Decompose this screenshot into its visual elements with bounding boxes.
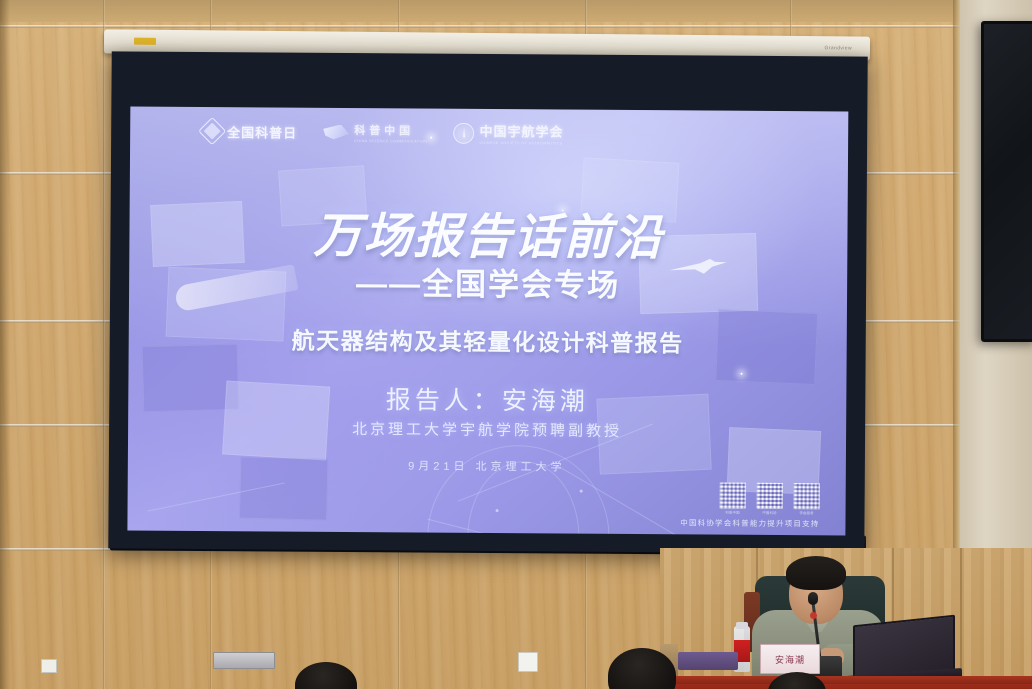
qr-code-icon[interactable] xyxy=(794,483,820,509)
logo-label: 科普中国 xyxy=(354,122,427,139)
microphone-icon xyxy=(808,592,818,605)
podium-desk-front xyxy=(660,684,1032,689)
qr-code-icon[interactable] xyxy=(757,483,783,509)
wall-vertical-seam xyxy=(103,0,105,689)
decor-network-node xyxy=(580,490,583,493)
logo-national-science-day: 全国科普日 xyxy=(202,121,297,142)
wall-outlet[interactable] xyxy=(41,659,57,673)
logo-sublabel: CHINA SCIENCE COMMUNICATION xyxy=(354,139,427,144)
qr-code-item[interactable]: 中国科协 xyxy=(757,483,783,515)
presenter-nameplate: 安海潮 xyxy=(760,644,820,674)
qr-caption: 中国科协 xyxy=(757,510,783,515)
slide-subtitle: ——全国学会专场 xyxy=(129,256,847,306)
microphone-indicator-light xyxy=(810,612,817,619)
logo-label: 全国科普日 xyxy=(227,122,297,141)
wall-outlet[interactable] xyxy=(518,652,538,672)
cube-icon xyxy=(198,117,226,145)
rocket-emblem-icon xyxy=(453,122,474,143)
qr-code-item[interactable]: 学会服务 xyxy=(794,483,820,515)
desk-purple-pad xyxy=(678,652,738,670)
left-wall-edge xyxy=(0,0,10,689)
wall-seam xyxy=(0,25,1032,28)
slide-speaker: 报告人：安海潮 xyxy=(128,378,846,419)
water-bottle-cap xyxy=(736,622,748,629)
nameplate-text: 安海潮 xyxy=(775,653,805,666)
lecture-hall-photo: Grandview xyxy=(0,0,1032,689)
logo-label: 中国宇航学会 xyxy=(479,121,563,141)
slide-topic: 航天器结构及其轻量化设计科普报告 xyxy=(129,320,847,359)
wing-icon xyxy=(323,124,349,139)
decor-sparkle xyxy=(741,373,743,375)
podium-area: 安海潮 xyxy=(660,548,1032,689)
slide-qr-block: 科普中国 中国科协 学会服务 中国科协学会科普能力提升项目支持 xyxy=(680,482,820,529)
logo-chinese-society-astronautics: 中国宇航学会 CHINESE SOCIETY OF ASTRONAUTICS xyxy=(453,121,563,146)
roller-label-sticker xyxy=(134,38,156,45)
qr-code-icon[interactable] xyxy=(720,483,746,509)
logo-sublabel: CHINESE SOCIETY OF ASTRONAUTICS xyxy=(479,141,563,146)
slide-qr-footer: 中国科协学会科普能力提升项目支持 xyxy=(680,517,819,529)
presentation-slide: 全国科普日 科普中国 CHINA SCIENCE COMMUNICATION 中… xyxy=(127,106,848,535)
qr-caption: 科普中国 xyxy=(720,510,746,515)
av-connection-panel[interactable] xyxy=(213,652,275,669)
decor-network-node xyxy=(496,509,499,512)
roller-brand-text: Grandview xyxy=(824,45,852,51)
logo-china-science-communication: 科普中国 CHINA SCIENCE COMMUNICATION xyxy=(323,121,427,143)
ceiling-strip xyxy=(0,0,1032,22)
wall-display-panel xyxy=(981,21,1032,342)
presenter-hair xyxy=(786,556,846,590)
projector-screen: 全国科普日 科普中国 CHINA SCIENCE COMMUNICATION 中… xyxy=(108,51,867,553)
qr-caption: 学会服务 xyxy=(794,510,820,515)
qr-code-item[interactable]: 科普中国 xyxy=(720,483,746,515)
slide-logo-bar: 全国科普日 科普中国 CHINA SCIENCE COMMUNICATION 中… xyxy=(202,119,564,146)
